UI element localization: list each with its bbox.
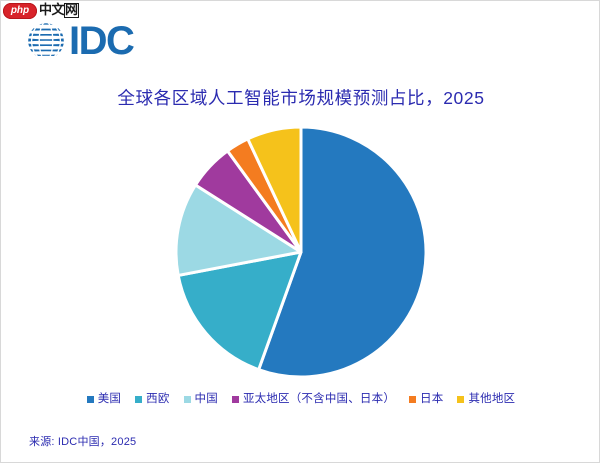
idc-logo: IDC	[26, 21, 133, 61]
legend-swatch-icon	[409, 396, 416, 403]
source-note: 来源: IDC中国，2025	[29, 433, 136, 449]
slide-canvas: php 中文网 IDC 全球各区域	[0, 0, 600, 463]
globe-icon	[26, 21, 66, 61]
legend-item[interactable]: 其他地区	[457, 394, 515, 406]
legend-item[interactable]: 西欧	[135, 394, 169, 406]
legend-item-label: 美国	[98, 394, 121, 406]
legend-item[interactable]: 中国	[184, 394, 218, 406]
legend-swatch-icon	[232, 396, 239, 403]
page-title: 全球各区域人工智能市场规模预测占比，2025	[1, 85, 600, 110]
legend-item[interactable]: 美国	[87, 394, 121, 406]
php-watermark: php 中文网	[3, 2, 79, 19]
legend-item-label: 其他地区	[468, 394, 515, 406]
legend-item-label: 亚太地区（不含中国、日本）	[243, 394, 395, 406]
watermark-site-label: 中文网	[39, 3, 79, 17]
php-badge-icon: php	[3, 3, 37, 19]
legend-item[interactable]: 亚太地区（不含中国、日本）	[232, 394, 395, 406]
legend-swatch-icon	[184, 396, 191, 403]
pie-slice-group	[176, 127, 426, 377]
pie-chart	[1, 119, 600, 387]
pie-chart-svg	[163, 119, 439, 385]
legend-item-label: 日本	[420, 394, 443, 406]
legend-swatch-icon	[87, 396, 94, 403]
legend-swatch-icon	[135, 396, 142, 403]
legend-swatch-icon	[457, 396, 464, 403]
idc-wordmark: IDC	[69, 23, 133, 60]
legend-item-label: 中国	[195, 394, 218, 406]
chart-legend: 美国西欧中国亚太地区（不含中国、日本）日本其他地区	[1, 394, 600, 406]
legend-item-label: 西欧	[146, 394, 169, 406]
legend-item[interactable]: 日本	[409, 394, 443, 406]
